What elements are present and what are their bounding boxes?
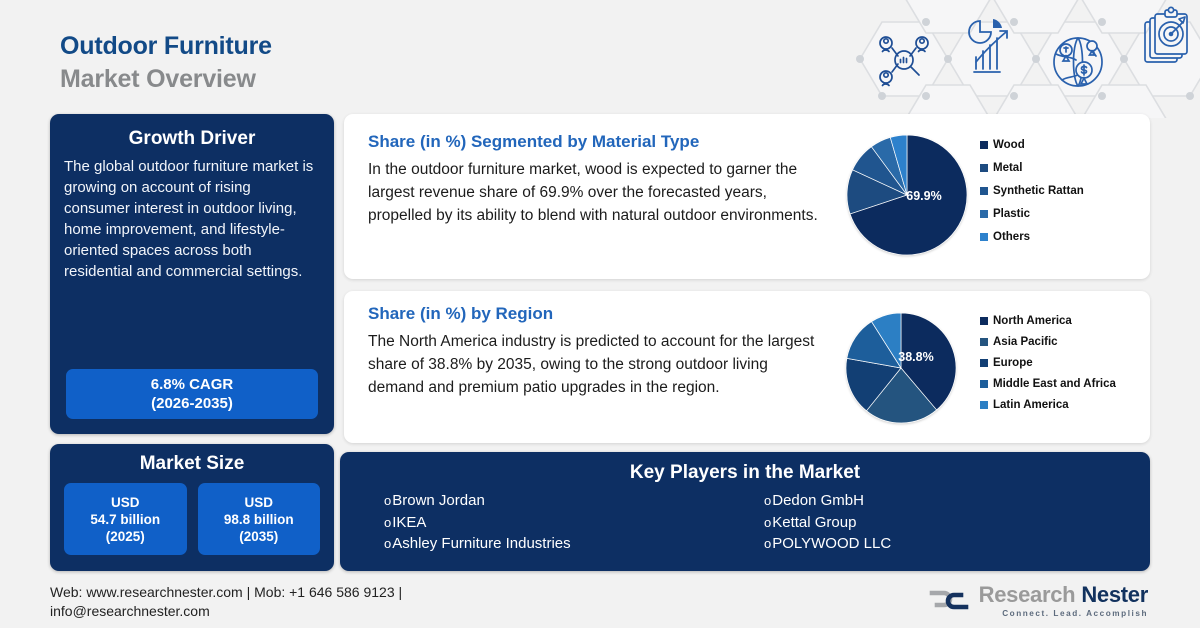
bullet-icon: o bbox=[764, 490, 771, 512]
market-size-box-2035: USD 98.8 billion (2035) bbox=[198, 483, 321, 555]
market-size-title: Market Size bbox=[50, 453, 334, 475]
currency-label: USD bbox=[244, 494, 273, 511]
cagr-value: 6.8% CAGR bbox=[151, 375, 234, 394]
legend-item: Wood bbox=[980, 139, 1084, 151]
value-label: 54.7 billion bbox=[90, 511, 160, 528]
legend-item: Europe bbox=[980, 357, 1116, 369]
material-type-body: In the outdoor furniture market, wood is… bbox=[344, 152, 824, 227]
legend-swatch bbox=[980, 187, 988, 195]
svg-text:38.8%: 38.8% bbox=[898, 350, 933, 364]
growth-driver-title: Growth Driver bbox=[50, 128, 334, 150]
legend-item: Middle East and Africa bbox=[980, 378, 1116, 390]
key-player-name: Brown Jordan bbox=[392, 490, 485, 512]
legend-swatch bbox=[980, 338, 988, 346]
bullet-icon: o bbox=[384, 490, 391, 512]
legend-item: Asia Pacific bbox=[980, 336, 1116, 348]
legend-label: Asia Pacific bbox=[993, 336, 1058, 348]
key-players-card: Key Players in the Market oBrown Jordano… bbox=[340, 452, 1150, 571]
key-players-title: Key Players in the Market bbox=[340, 462, 1150, 484]
key-player-item: oAshley Furniture Industries bbox=[384, 533, 764, 555]
legend-swatch bbox=[980, 141, 988, 149]
legend-item: Synthetic Rattan bbox=[980, 185, 1084, 197]
year-label: (2025) bbox=[106, 528, 145, 545]
key-player-item: oPOLYWOOD LLC bbox=[764, 533, 1144, 555]
market-size-values: USD 54.7 billion (2025) USD 98.8 billion… bbox=[50, 475, 334, 555]
legend-label: North America bbox=[993, 315, 1072, 327]
growth-driver-card: Growth Driver The global outdoor furnitu… bbox=[50, 114, 334, 434]
material-type-pie-chart: 69.9% bbox=[842, 130, 972, 265]
decorative-hex-mesh bbox=[840, 0, 1200, 118]
region-card: Share (in %) by Region The North America… bbox=[344, 291, 1150, 443]
key-player-item: oIKEA bbox=[384, 512, 764, 534]
region-pie-chart: 38.8% bbox=[842, 309, 960, 432]
svg-text:69.9%: 69.9% bbox=[906, 189, 941, 203]
key-player-item: oBrown Jordan bbox=[384, 490, 764, 512]
legend-label: Others bbox=[993, 231, 1030, 243]
key-player-item: oKettal Group bbox=[764, 512, 1144, 534]
legend-swatch bbox=[980, 380, 988, 388]
footer-contact-line1: Web: www.researchnester.com | Mob: +1 64… bbox=[50, 583, 402, 602]
key-players-column-left: oBrown JordanoIKEAoAshley Furniture Indu… bbox=[384, 490, 764, 555]
legend-item: North America bbox=[980, 315, 1116, 327]
logo-tagline: Connect. Lead. Accomplish bbox=[979, 609, 1148, 618]
logo-word-nester: Nester bbox=[1081, 582, 1148, 608]
key-player-item: oDedon GmbH bbox=[764, 490, 1144, 512]
legend-label: Middle East and Africa bbox=[993, 378, 1116, 390]
year-label: (2035) bbox=[239, 528, 278, 545]
material-type-legend: WoodMetalSynthetic RattanPlasticOthers bbox=[980, 139, 1084, 254]
legend-swatch bbox=[980, 164, 988, 172]
bullet-icon: o bbox=[384, 533, 391, 555]
growth-driver-body: The global outdoor furniture market is g… bbox=[50, 150, 334, 282]
legend-label: Wood bbox=[993, 139, 1025, 151]
page-header: Outdoor Furniture Market Overview bbox=[60, 32, 272, 94]
currency-label: USD bbox=[111, 494, 140, 511]
page-title-secondary: Market Overview bbox=[60, 65, 272, 94]
legend-swatch bbox=[980, 401, 988, 409]
logo-word-research: Research bbox=[979, 582, 1076, 608]
value-label: 98.8 billion bbox=[224, 511, 294, 528]
key-player-name: Ashley Furniture Industries bbox=[392, 533, 570, 555]
legend-label: Plastic bbox=[993, 208, 1030, 220]
key-player-name: Dedon GmbH bbox=[772, 490, 864, 512]
cagr-badge: 6.8% CAGR (2026-2035) bbox=[66, 369, 318, 419]
bullet-icon: o bbox=[764, 512, 771, 534]
legend-label: Europe bbox=[993, 357, 1033, 369]
infographic-canvas: Outdoor Furniture Market Overview Growth… bbox=[0, 0, 1200, 628]
legend-item: Metal bbox=[980, 162, 1084, 174]
research-nester-logo: Research Nester Connect. Lead. Accomplis… bbox=[928, 582, 1148, 618]
legend-item: Others bbox=[980, 231, 1084, 243]
legend-swatch bbox=[980, 317, 988, 325]
bullet-icon: o bbox=[764, 533, 771, 555]
region-body: The North America industry is predicted … bbox=[344, 324, 824, 399]
page-title-primary: Outdoor Furniture bbox=[60, 32, 272, 61]
legend-label: Latin America bbox=[993, 399, 1069, 411]
legend-item: Latin America bbox=[980, 399, 1116, 411]
market-size-box-2025: USD 54.7 billion (2025) bbox=[64, 483, 187, 555]
material-type-card: Share (in %) Segmented by Material Type … bbox=[344, 114, 1150, 279]
key-player-name: POLYWOOD LLC bbox=[772, 533, 891, 555]
logo-mark-icon bbox=[928, 585, 970, 615]
legend-swatch bbox=[980, 233, 988, 241]
legend-swatch bbox=[980, 359, 988, 367]
legend-label: Metal bbox=[993, 162, 1022, 174]
key-players-column-right: oDedon GmbHoKettal GroupoPOLYWOOD LLC bbox=[764, 490, 1144, 555]
legend-item: Plastic bbox=[980, 208, 1084, 220]
key-players-columns: oBrown JordanoIKEAoAshley Furniture Indu… bbox=[340, 484, 1150, 555]
key-player-name: IKEA bbox=[392, 512, 426, 534]
region-legend: North AmericaAsia PacificEuropeMiddle Ea… bbox=[980, 315, 1116, 420]
footer-contact: Web: www.researchnester.com | Mob: +1 64… bbox=[50, 583, 402, 621]
legend-swatch bbox=[980, 210, 988, 218]
legend-label: Synthetic Rattan bbox=[993, 185, 1084, 197]
key-player-name: Kettal Group bbox=[772, 512, 856, 534]
footer-contact-line2: info@researchnester.com bbox=[50, 602, 402, 621]
market-size-card: Market Size USD 54.7 billion (2025) USD … bbox=[50, 444, 334, 571]
bullet-icon: o bbox=[384, 512, 391, 534]
cagr-period: (2026-2035) bbox=[151, 394, 233, 413]
